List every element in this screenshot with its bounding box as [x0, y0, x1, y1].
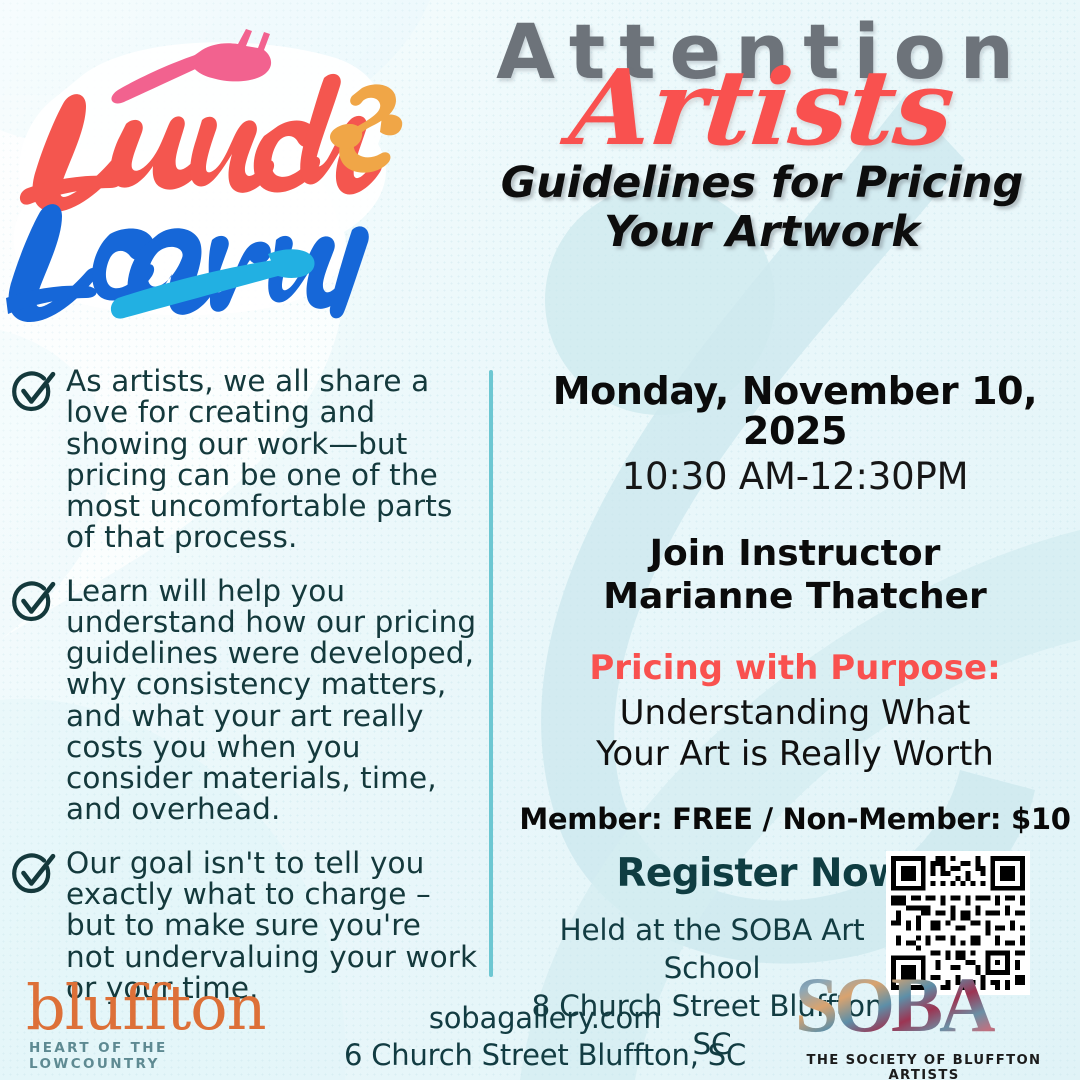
contact-info: sobagallery.com 6 Church Street Bluffton… [330, 1000, 760, 1074]
gallery-address: 6 Church Street Bluffton, SC [330, 1037, 760, 1074]
column-divider [489, 370, 493, 977]
check-circle-icon [8, 580, 56, 626]
pricing-info: Member: FREE / Non-Member: $10 [512, 804, 1078, 836]
instructor-block: Join Instructor Marianne Thatcher [512, 533, 1078, 618]
topic-line-1: Understanding What [620, 693, 971, 733]
check-circle-icon [8, 370, 56, 416]
benefits-list: As artists, we all share a love for crea… [8, 366, 478, 1004]
soba-logo: SOBA THE SOCIETY OF BLUFFTON ARTISTS [795, 965, 1053, 1080]
list-item: As artists, we all share a love for crea… [8, 366, 478, 554]
page-title: Guidelines for Pricing Your Artwork [452, 159, 1072, 256]
header-block: Attention Artists Guidelines for Pricing… [452, 14, 1072, 344]
bluffton-logo: bluffton HEART OF THE LOWCOUNTRY [26, 980, 296, 1072]
poster-canvas: Attention Artists Guidelines for Pricing… [0, 0, 1080, 1080]
artists-heading: Artists [447, 64, 1076, 151]
svg-text:SOBA: SOBA [795, 965, 995, 1048]
soba-tagline: THE SOCIETY OF BLUFFTON ARTISTS [795, 1053, 1053, 1080]
lunch-and-learn-logo [6, 16, 406, 326]
event-time: 10:30 AM-12:30PM [512, 457, 1078, 498]
topic-line-2: Your Art is Really Worth [596, 734, 994, 774]
list-item: Learn will help you understand how our p… [8, 576, 478, 826]
bluffton-wordmark: bluffton [26, 980, 296, 1036]
soba-wordmark-glyphs: SOBA [795, 965, 995, 1048]
topic-heading: Pricing with Purpose: [512, 650, 1078, 687]
bluffton-tagline: HEART OF THE LOWCOUNTRY [29, 1040, 296, 1072]
topic-body: Understanding What Your Art is Really Wo… [512, 693, 1078, 775]
subtitle-line-2: Your Artwork [604, 207, 920, 257]
list-item-text: As artists, we all share a love for crea… [66, 366, 478, 554]
website-link[interactable]: sobagallery.com [330, 1000, 760, 1037]
list-item-text: Learn will help you understand how our p… [66, 576, 478, 826]
join-instructor-label: Join Instructor [650, 533, 941, 574]
instructor-name: Marianne Thatcher [603, 576, 987, 617]
event-details: Monday, November 10, 2025 10:30 AM-12:30… [512, 372, 1078, 1004]
event-date: Monday, November 10, 2025 [512, 372, 1078, 452]
check-circle-icon [8, 852, 56, 898]
